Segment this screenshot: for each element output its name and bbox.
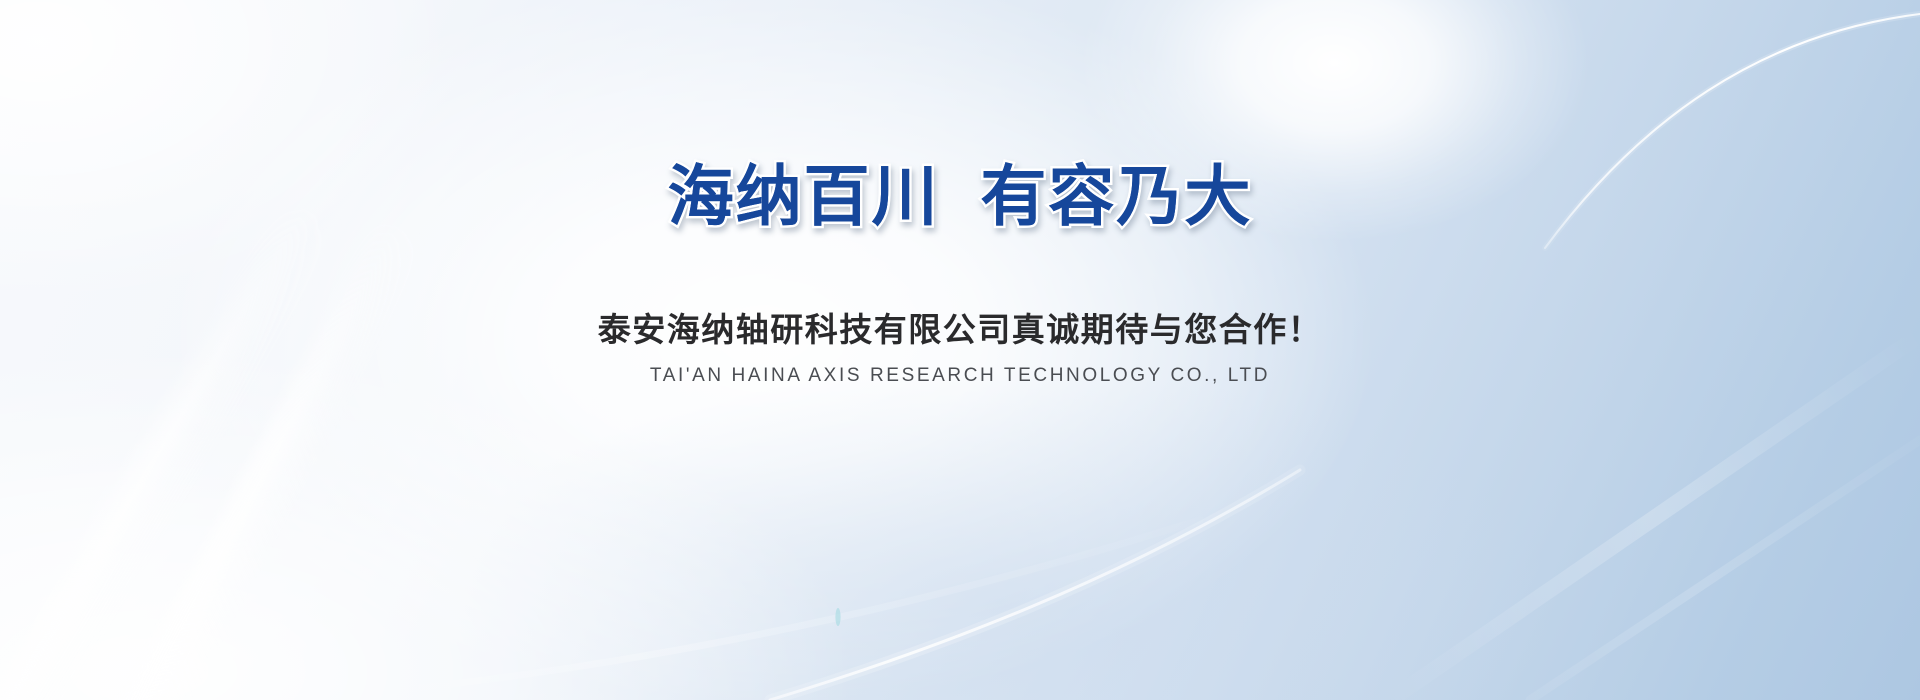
banner-subtitle-english: TAI'AN HAINA AXIS RESEARCH TECHNOLOGY CO… (0, 366, 1920, 385)
banner-content: 海纳百川 有容乃大 海纳百川 有容乃大 泰安海纳轴研科技有限公司真诚期待与您合作… (0, 0, 1920, 700)
banner-headline: 海纳百川 有容乃大 (0, 163, 1920, 229)
banner-subtitle-chinese: 泰安海纳轴研科技有限公司真诚期待与您合作！ (0, 313, 1920, 346)
hero-banner: 海纳百川 有容乃大 海纳百川 有容乃大 泰安海纳轴研科技有限公司真诚期待与您合作… (0, 0, 1920, 700)
